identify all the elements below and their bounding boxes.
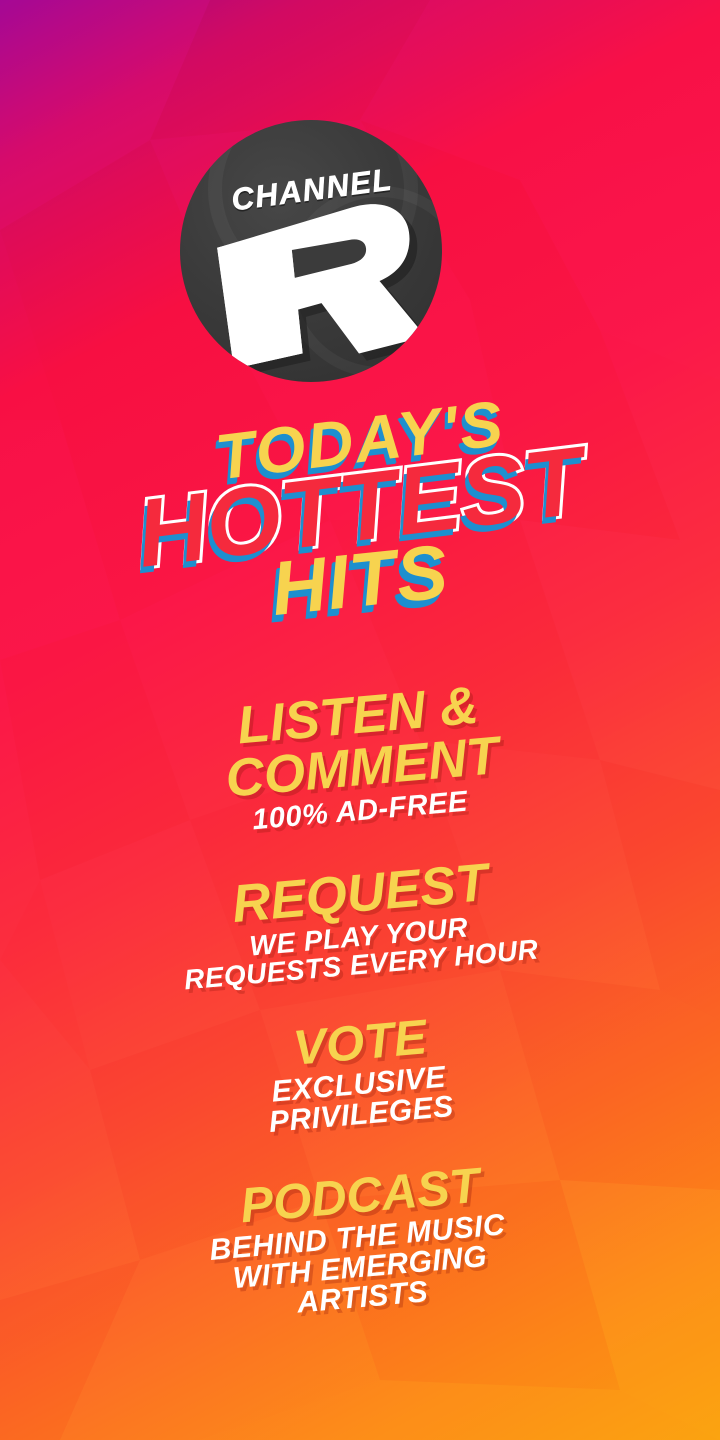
page-title: TODAY'S HOTTEST HITS [0, 398, 720, 618]
promo-poster: CHANNEL TODAY'S HOTTEST HITS LISTEN &COM… [0, 0, 720, 1440]
logo-disc: CHANNEL [180, 120, 442, 382]
feature-list: LISTEN &COMMENT 100% AD-FREE REQUEST WE … [0, 690, 720, 1313]
feature-item-listen: LISTEN &COMMENT 100% AD-FREE [0, 690, 720, 826]
channel-r-logo: CHANNEL [180, 120, 442, 382]
feature-item-vote: VOTE EXCLUSIVEPRIVILEGES [0, 1019, 720, 1130]
feature-item-request: REQUEST WE PLAY YOURREQUESTS EVERY HOUR [0, 868, 720, 979]
feature-item-podcast: PODCAST BEHIND THE MUSICWITH EMERGINGART… [0, 1172, 720, 1313]
